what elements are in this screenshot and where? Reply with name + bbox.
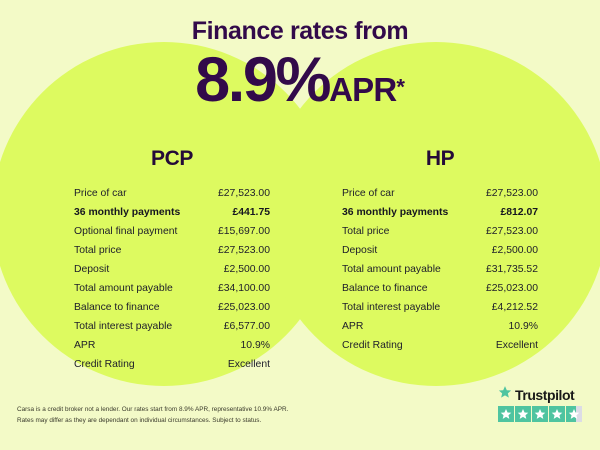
row-value: £34,100.00 bbox=[218, 284, 270, 294]
page-title: Finance rates from bbox=[0, 19, 600, 44]
table-row: Total amount payable £31,735.52 bbox=[342, 261, 538, 280]
trustpilot-star-box bbox=[566, 406, 582, 422]
pcp-rows: Price of car £27,523.00 36 monthly payme… bbox=[58, 185, 286, 375]
table-row: Total interest payable £6,577.00 bbox=[74, 318, 270, 337]
trustpilot-star-box bbox=[515, 406, 531, 422]
trustpilot-name: Trustpilot bbox=[515, 388, 574, 402]
table-row: Balance to finance £25,023.00 bbox=[342, 280, 538, 299]
table-row: APR 10.9% bbox=[74, 337, 270, 356]
row-label: Balance to finance bbox=[342, 284, 428, 294]
table-row: Total price £27,523.00 bbox=[342, 223, 538, 242]
row-label: 36 monthly payments bbox=[342, 208, 448, 218]
promo-card: Finance rates from 8.9%APR* PCP Price of… bbox=[0, 0, 600, 450]
table-row: 36 monthly payments £441.75 bbox=[74, 204, 270, 223]
column-title-pcp: PCP bbox=[58, 148, 286, 169]
row-label: APR bbox=[74, 341, 95, 351]
table-row: Deposit £2,500.00 bbox=[342, 242, 538, 261]
hero-rate-value: 8.9% bbox=[195, 45, 329, 115]
table-row: Balance to finance £25,023.00 bbox=[74, 299, 270, 318]
trustpilot-rating[interactable]: Trustpilot bbox=[498, 386, 586, 422]
row-label: Deposit bbox=[74, 265, 109, 275]
row-label: Total price bbox=[74, 246, 121, 256]
row-label: Optional final payment bbox=[74, 227, 177, 237]
column-title-hp: HP bbox=[326, 148, 554, 169]
table-row: Credit Rating Excellent bbox=[342, 337, 538, 356]
row-label: 36 monthly payments bbox=[74, 208, 180, 218]
finance-column-pcp: PCP Price of car £27,523.00 36 monthly p… bbox=[58, 148, 286, 375]
row-label: Total interest payable bbox=[74, 322, 172, 332]
row-value: £27,523.00 bbox=[486, 227, 538, 237]
row-value: £27,523.00 bbox=[218, 246, 270, 256]
row-value: £25,023.00 bbox=[486, 284, 538, 294]
row-value: Excellent bbox=[228, 360, 270, 370]
row-value: Excellent bbox=[496, 341, 538, 351]
table-row: Credit Rating Excellent bbox=[74, 356, 270, 375]
table-row: Deposit £2,500.00 bbox=[74, 261, 270, 280]
row-label: APR bbox=[342, 322, 363, 332]
disclaimer-line-2: Rates may differ as they are dependant o… bbox=[17, 415, 347, 426]
row-value: £2,500.00 bbox=[492, 246, 538, 256]
row-value: £31,735.52 bbox=[486, 265, 538, 275]
hero-asterisk: * bbox=[396, 75, 405, 100]
row-value: £15,697.00 bbox=[218, 227, 270, 237]
row-value: £27,523.00 bbox=[218, 189, 270, 199]
row-label: Price of car bbox=[74, 189, 127, 199]
trustpilot-stars bbox=[498, 406, 586, 422]
finance-column-hp: HP Price of car £27,523.00 36 monthly pa… bbox=[326, 148, 554, 356]
row-value: £812.07 bbox=[500, 208, 538, 218]
card-content: Finance rates from 8.9%APR* PCP Price of… bbox=[0, 0, 600, 450]
hp-rows: Price of car £27,523.00 36 monthly payme… bbox=[326, 185, 554, 356]
table-row: Optional final payment £15,697.00 bbox=[74, 223, 270, 242]
hero-apr-label: APR bbox=[329, 71, 396, 108]
table-row: APR 10.9% bbox=[342, 318, 538, 337]
row-label: Deposit bbox=[342, 246, 377, 256]
table-row: Price of car £27,523.00 bbox=[342, 185, 538, 204]
hero-rate-block: 8.9%APR* bbox=[0, 49, 600, 112]
row-label: Price of car bbox=[342, 189, 395, 199]
table-row: Total amount payable £34,100.00 bbox=[74, 280, 270, 299]
table-row: Price of car £27,523.00 bbox=[74, 185, 270, 204]
table-row: Total price £27,523.00 bbox=[74, 242, 270, 261]
trustpilot-star-box bbox=[549, 406, 565, 422]
row-value: £441.75 bbox=[232, 208, 270, 218]
trustpilot-star-box bbox=[498, 406, 514, 422]
row-value: £25,023.00 bbox=[218, 303, 270, 313]
row-label: Credit Rating bbox=[74, 360, 135, 370]
row-value: 10.9% bbox=[509, 322, 538, 332]
row-label: Total amount payable bbox=[342, 265, 441, 275]
trustpilot-star-box bbox=[532, 406, 548, 422]
row-value: £2,500.00 bbox=[224, 265, 270, 275]
row-label: Total amount payable bbox=[74, 284, 173, 294]
trustpilot-wordmark: Trustpilot bbox=[498, 386, 586, 403]
row-label: Credit Rating bbox=[342, 341, 403, 351]
row-label: Total price bbox=[342, 227, 389, 237]
row-label: Total interest payable bbox=[342, 303, 440, 313]
row-value: £4,212.52 bbox=[492, 303, 538, 313]
table-row: Total interest payable £4,212.52 bbox=[342, 299, 538, 318]
disclaimer-line-1: Carsa is a credit broker not a lender. O… bbox=[17, 404, 347, 415]
row-value: £27,523.00 bbox=[486, 189, 538, 199]
trustpilot-star-icon bbox=[498, 385, 512, 404]
row-value: £6,577.00 bbox=[224, 322, 270, 332]
row-label: Balance to finance bbox=[74, 303, 160, 313]
row-value: 10.9% bbox=[241, 341, 270, 351]
table-row: 36 monthly payments £812.07 bbox=[342, 204, 538, 223]
disclaimer-text: Carsa is a credit broker not a lender. O… bbox=[17, 404, 347, 426]
